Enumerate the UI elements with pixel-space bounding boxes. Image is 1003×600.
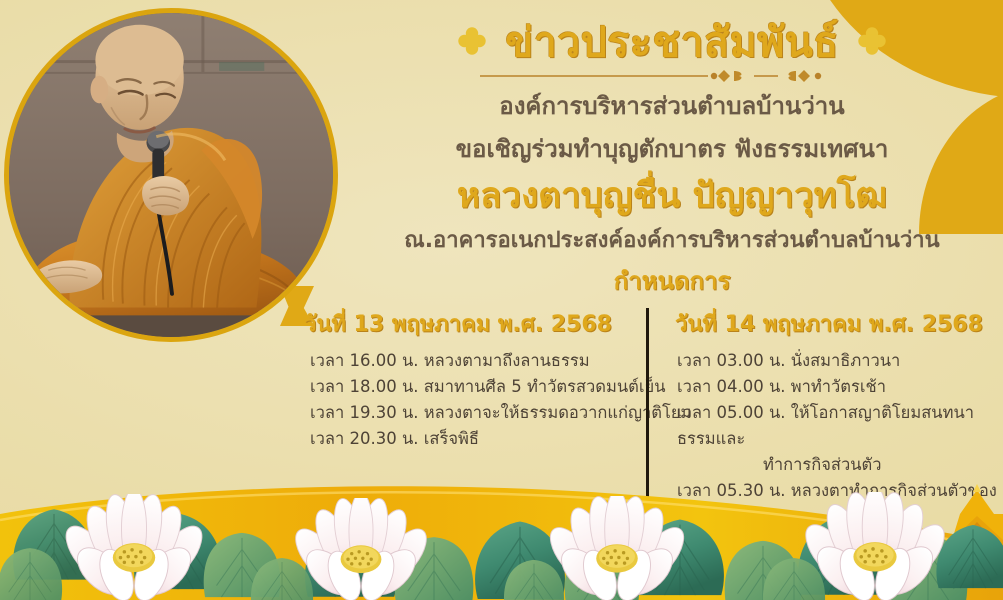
schedule-item: เวลา 06.00 น. รับบิณฑบาต-เข้าพิธีทางพุทธ… — [677, 530, 998, 582]
schedule-item: เวลา 03.00 น. นั่งสมาธิภาวนา — [677, 348, 998, 374]
agenda-label: กำหนดการ — [348, 261, 996, 300]
quatrefoil-left-icon — [457, 26, 487, 60]
day-heading: วันที่ 13 พฤษภาคม พ.ศ. 2568 — [304, 306, 630, 341]
schedule-item: เวลา 04.00 น. พาทำวัตรเช้า — [677, 374, 998, 400]
lotus-flower — [57, 488, 210, 600]
monk-photo-illustration — [9, 13, 333, 337]
venue-line: ณ.อาคารอเนกประสงค์องค์การบริหารส่วนตำบลบ… — [348, 226, 996, 256]
invitation-line: ขอเชิญร่วมทำบุญตักบาตร ฟังธรรมเทศนา — [348, 133, 996, 165]
schedule-item: เวลา 05.30 น. หลวงตาทำการกิจส่วนตัวของท่… — [677, 478, 998, 530]
schedule-column-day1: วันที่ 13 พฤษภาคม พ.ศ. 2568 เวลา 16.00 น… — [286, 306, 646, 452]
schedule-item-continuation: ไหว้พระรับศีลถวายทาน พิจารณา — [677, 583, 998, 600]
monk-name: หลวงตาบุญชื่น ปัญญาวุทโฒ — [348, 175, 996, 217]
monk-photo-circle — [4, 8, 338, 342]
schedule-item: เวลา 19.30 น. หลวงตาจะให้ธรรมดอวากแก่ญาต… — [310, 400, 630, 426]
schedule-item-continuation: ทำการกิจส่วนตัว — [677, 452, 998, 478]
organization-name: องค์การบริหารส่วนตำบลบ้านว่าน — [348, 90, 996, 122]
schedule-section: วันที่ 13 พฤษภาคม พ.ศ. 2568 เวลา 16.00 น… — [286, 306, 998, 600]
title-ornament-divider — [472, 68, 872, 84]
schedule-item: เวลา 16.00 น. หลวงตามาถึงลานธรรม — [310, 348, 630, 374]
day-heading: วันที่ 14 พฤษภาคม พ.ศ. 2568 — [675, 306, 998, 341]
schedule-column-day2: วันที่ 14 พฤษภาคม พ.ศ. 2568 เวลา 03.00 น… — [649, 306, 998, 600]
header-block: ข่าวประชาสัมพันธ์ — [348, 20, 996, 300]
title-row: ข่าวประชาสัมพันธ์ — [348, 20, 996, 66]
schedule-item: เวลา 20.30 น. เสร็จพิธี — [310, 426, 630, 452]
poster-canvas: ข่าวประชาสัมพันธ์ — [0, 0, 1003, 600]
schedule-item: เวลา 05.00 น. ให้โอกาสญาติโยมสนทนาธรรมแล… — [677, 400, 998, 452]
schedule-item: เวลา 18.00 น. สมาทานศีล 5 ทำวัตรสวดมนต์เ… — [310, 374, 630, 400]
monk-photo — [9, 13, 333, 337]
quatrefoil-right-icon — [857, 26, 887, 60]
page-title: ข่าวประชาสัมพันธ์ — [505, 20, 839, 66]
